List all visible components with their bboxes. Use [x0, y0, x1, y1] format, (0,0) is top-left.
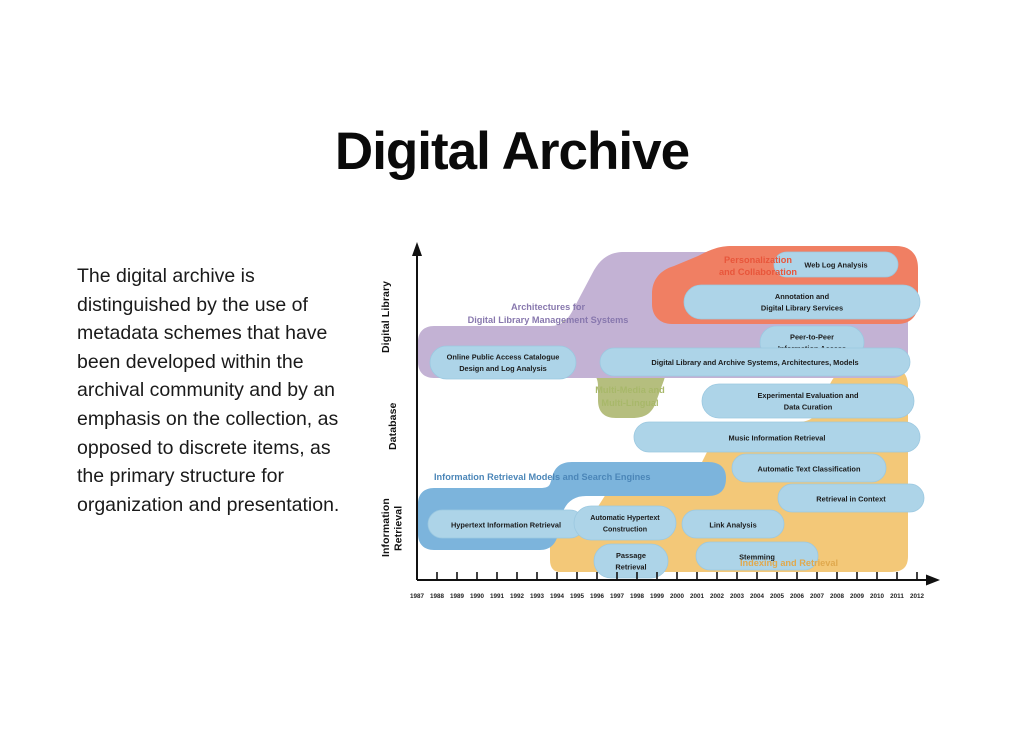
pill-label: Music Information Retrieval: [729, 434, 826, 443]
pill-label-line2: Digital Library Services: [761, 304, 843, 313]
pill-label-line2: Design and Log Analysis: [459, 364, 547, 373]
pill-label: Hypertext Information Retrieval: [451, 521, 561, 530]
y-axis-arrow: [412, 242, 422, 256]
x-tick-label: 2006: [790, 593, 805, 600]
slide: Digital Archive The digital archive is d…: [0, 0, 1024, 748]
pill-label-line2: Retrieval: [615, 563, 646, 572]
x-tick-label: 2008: [830, 593, 845, 600]
group-label-multimedia-line2: Multi-Lingual: [601, 398, 658, 408]
pill-label: Digital Library and Archive Systems, Arc…: [651, 358, 858, 367]
pill-experimental-evaluation-data-curation: Experimental Evaluation and Data Curatio…: [702, 384, 914, 418]
chart-svg: Web Log Analysis Annotation and Digital …: [378, 238, 950, 610]
x-axis-arrow: [926, 575, 940, 586]
pill-label-line1: Automatic Hypertext: [590, 514, 660, 522]
pill-annotation-digital-library-services: Annotation and Digital Library Services: [684, 285, 920, 319]
x-tick-label: 1996: [590, 593, 605, 600]
pill-music-information-retrieval: Music Information Retrieval: [634, 422, 920, 452]
x-axis-tick-labels: 1987198819891990199119921993199419951996…: [410, 593, 925, 600]
x-tick-label: 2012: [910, 593, 925, 600]
group-label-multimedia-line1: Multi-Media and: [595, 385, 664, 395]
page-title: Digital Archive: [0, 124, 1024, 180]
pill-label-line1: Experimental Evaluation and: [757, 391, 859, 400]
pill-link-analysis: Link Analysis: [682, 510, 784, 538]
group-label-ir-models: Information Retrieval Models and Search …: [434, 472, 650, 482]
x-tick-label: 1994: [550, 593, 565, 600]
x-tick-label: 1992: [510, 593, 525, 600]
x-tick-label: 1998: [630, 593, 645, 600]
x-tick-label: 2009: [850, 593, 865, 600]
x-tick-label: 1997: [610, 593, 625, 600]
pill-retrieval-in-context: Retrieval in Context: [778, 484, 924, 512]
group-label-personalization-line2: and Collaboration: [719, 267, 797, 277]
x-tick-label: 1999: [650, 593, 665, 600]
timeline-chart: Digital Library Database Information Ret…: [378, 238, 950, 610]
x-axis-ticks: [417, 572, 917, 580]
pill-label-line1: Peer-to-Peer: [790, 333, 834, 342]
pill-automatic-text-classification: Automatic Text Classification: [732, 454, 886, 482]
group-label-personalization-line1: Personalization: [724, 255, 792, 265]
x-tick-label: 1993: [530, 593, 545, 600]
pill-label: Web Log Analysis: [804, 261, 867, 270]
x-tick-label: 1989: [450, 593, 465, 600]
x-tick-label: 2002: [710, 593, 725, 600]
x-tick-label: 1991: [490, 593, 505, 600]
pill-label-line1: Passage: [616, 551, 646, 560]
x-tick-label: 2007: [810, 593, 825, 600]
group-label-indexing: Indexing and Retrieval: [740, 558, 838, 568]
group-label-architectures-line1: Architectures for: [511, 302, 585, 312]
x-tick-label: 1995: [570, 593, 585, 600]
pill-label: Retrieval in Context: [816, 495, 886, 504]
pill-label-line1: Annotation and: [775, 292, 830, 301]
x-tick-label: 2005: [770, 593, 785, 600]
x-tick-label: 2003: [730, 593, 745, 600]
x-tick-label: 1988: [430, 593, 445, 600]
pill-label: Link Analysis: [709, 521, 756, 530]
pill-hypertext-information-retrieval: Hypertext Information Retrieval: [428, 510, 584, 538]
pill-label-line1: Online Public Access Catalogue: [447, 353, 560, 362]
y-axis-label-information-retrieval: Information Retrieval: [380, 483, 406, 573]
pill-label-line2: Data Curation: [784, 403, 833, 412]
x-tick-label: 2010: [870, 593, 885, 600]
pill-label: Automatic Text Classification: [758, 465, 861, 474]
x-tick-label: 1987: [410, 593, 425, 600]
pill-label-line2: Construction: [603, 526, 647, 534]
pill-online-public-access-catalogue: Online Public Access Catalogue Design an…: [430, 346, 576, 379]
x-tick-label: 2001: [690, 593, 705, 600]
x-tick-label: 2011: [890, 593, 904, 600]
pill-digital-library-archive-systems: Digital Library and Archive Systems, Arc…: [600, 348, 910, 376]
x-tick-label: 2000: [670, 593, 685, 600]
pill-automatic-hypertext-construction: Automatic Hypertext Construction: [574, 506, 676, 540]
x-tick-label: 2004: [750, 593, 765, 600]
y-axis-label-digital-library: Digital Library: [380, 278, 406, 356]
x-tick-label: 1990: [470, 593, 485, 600]
y-axis-label-database: Database: [387, 388, 401, 464]
group-label-architectures-line2: Digital Library Management Systems: [468, 315, 629, 325]
body-paragraph: The digital archive is distinguished by …: [77, 262, 359, 519]
